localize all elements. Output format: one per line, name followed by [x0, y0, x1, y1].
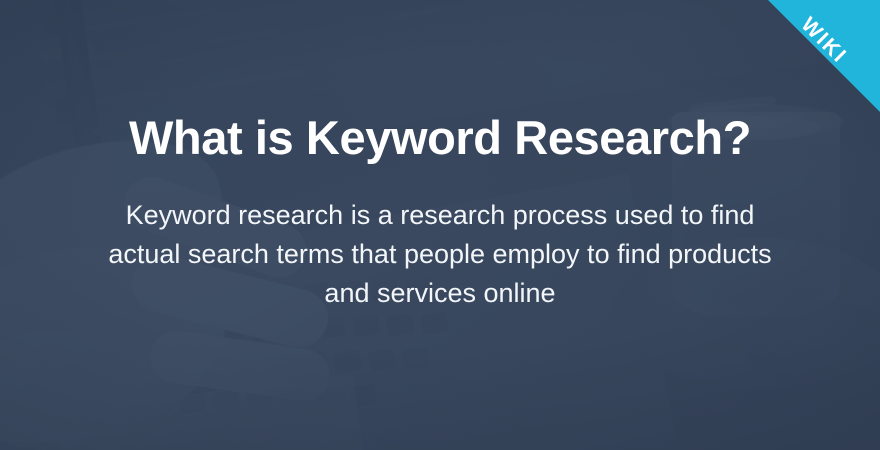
page-title: What is Keyword Research? [129, 113, 751, 162]
subtitle-line-2: actual search terms that people employ t… [108, 239, 771, 269]
subtitle-line-3: and services online [324, 278, 555, 308]
content-block: What is Keyword Research? Keyword resear… [0, 0, 880, 450]
page-subtitle: Keyword research is a research process u… [95, 196, 785, 313]
subtitle-line-1: Keyword research is a research process u… [126, 200, 755, 230]
wiki-hero-card: WIKI What is Keyword Research? Keyword r… [0, 0, 880, 450]
